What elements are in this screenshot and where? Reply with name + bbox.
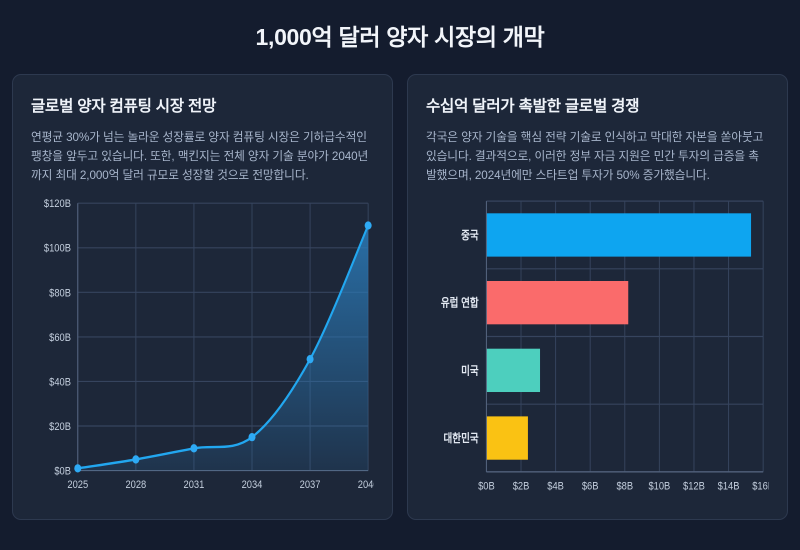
card-body-text: 연평균 30%가 넘는 놀라운 성장률로 양자 컴퓨팅 시장은 기하급수적인 팽…	[31, 129, 374, 186]
bar[interactable]	[486, 416, 528, 459]
data-point[interactable]	[365, 221, 372, 229]
x-axis-tick-label: $2B	[513, 481, 530, 493]
x-axis-tick-label: $8B	[616, 481, 633, 493]
card-body-text: 각국은 양자 기술을 핵심 전략 기술로 인식하고 막대한 자본을 쏟아붓고 있…	[426, 129, 769, 186]
x-axis-tick-label: $10B	[648, 481, 670, 493]
bar-chart-svg: $0B$2B$4B$6B$8B$10B$12B$14B$16B중국유럽 연합미국…	[426, 194, 769, 505]
bar[interactable]	[486, 213, 751, 256]
x-axis-tick-label: $16B	[752, 481, 769, 493]
x-axis-tick-label: 2037	[300, 479, 321, 491]
bar-category-label: 유럽 연합	[441, 296, 479, 310]
line-chart: $0B$20B$40B$60B$80B$100B$120B20252028203…	[31, 194, 374, 505]
page-title: 1,000억 달러 양자 시장의 개막	[0, 0, 800, 74]
y-axis-tick-label: $100B	[44, 243, 71, 255]
cards-container: 글로벌 양자 컴퓨팅 시장 전망 연평균 30%가 넘는 놀라운 성장률로 양자…	[0, 74, 800, 520]
x-axis-tick-label: 2025	[67, 479, 88, 491]
bar[interactable]	[486, 349, 540, 392]
y-axis-tick-label: $20B	[49, 421, 71, 433]
y-axis-tick-label: $40B	[49, 377, 71, 389]
x-axis-tick-label: $14B	[718, 481, 740, 493]
bar-chart: $0B$2B$4B$6B$8B$10B$12B$14B$16B중국유럽 연합미국…	[426, 194, 769, 505]
card-global-competition: 수십억 달러가 촉발한 글로벌 경쟁 각국은 양자 기술을 핵심 전략 기술로 …	[407, 74, 788, 520]
x-axis-tick-label: $4B	[547, 481, 564, 493]
bar[interactable]	[486, 281, 628, 324]
bar-category-label: 대한민국	[444, 431, 479, 445]
card-title: 글로벌 양자 컴퓨팅 시장 전망	[31, 94, 374, 116]
x-axis-tick-label: $0B	[478, 481, 495, 493]
y-axis-tick-label: $60B	[49, 332, 71, 344]
y-axis-tick-label: $80B	[49, 287, 71, 299]
x-axis-tick-label: 2034	[242, 479, 263, 491]
line-chart-svg: $0B$20B$40B$60B$80B$100B$120B20252028203…	[31, 194, 374, 505]
x-axis-tick-label: 2031	[184, 479, 205, 491]
data-point[interactable]	[307, 355, 314, 363]
x-axis-tick-label: $6B	[582, 481, 599, 493]
data-point[interactable]	[248, 433, 255, 441]
data-point[interactable]	[74, 464, 81, 472]
x-axis-tick-label: 2040	[358, 479, 374, 491]
data-point[interactable]	[132, 455, 139, 463]
y-axis-tick-label: $0B	[54, 466, 71, 478]
card-market-outlook: 글로벌 양자 컴퓨팅 시장 전망 연평균 30%가 넘는 놀라운 성장률로 양자…	[12, 74, 393, 520]
card-title: 수십억 달러가 촉발한 글로벌 경쟁	[426, 94, 769, 116]
y-axis-tick-label: $120B	[44, 198, 71, 210]
bar-category-label: 미국	[461, 363, 479, 377]
area-fill	[78, 225, 368, 470]
x-axis-tick-label: 2028	[125, 479, 146, 491]
data-point[interactable]	[190, 444, 197, 452]
bar-category-label: 중국	[461, 229, 479, 242]
x-axis-tick-label: $12B	[683, 481, 705, 493]
